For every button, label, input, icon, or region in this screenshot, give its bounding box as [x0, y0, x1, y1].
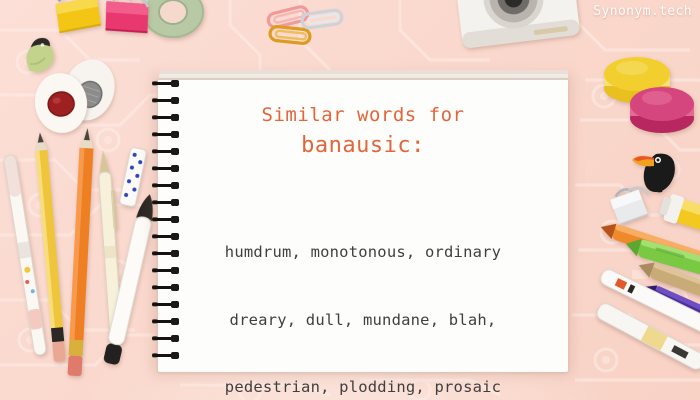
- binder-clip-pink: [93, 0, 157, 48]
- macaron-pink: [628, 78, 696, 136]
- synonym-line: pedestrian, plodding, prosaic: [158, 376, 568, 399]
- screenshot-stage: Similar words for banausic: humdrum, mon…: [0, 0, 700, 400]
- synonym-line: dreary, dull, mundane, blah,: [158, 309, 568, 332]
- title-line-2: banausic:: [158, 130, 568, 162]
- card-title: Similar words for banausic:: [158, 100, 568, 162]
- synonym-list: humdrum, monotonous, ordinary dreary, du…: [158, 196, 568, 400]
- site-logo[interactable]: Synonym.tech: [593, 4, 692, 19]
- notepad-content: Similar words for banausic: humdrum, mon…: [158, 78, 568, 372]
- bird-figurine-green: [14, 30, 61, 75]
- synonym-line: humdrum, monotonous, ordinary: [158, 241, 568, 264]
- title-line-1: Similar words for: [158, 100, 568, 130]
